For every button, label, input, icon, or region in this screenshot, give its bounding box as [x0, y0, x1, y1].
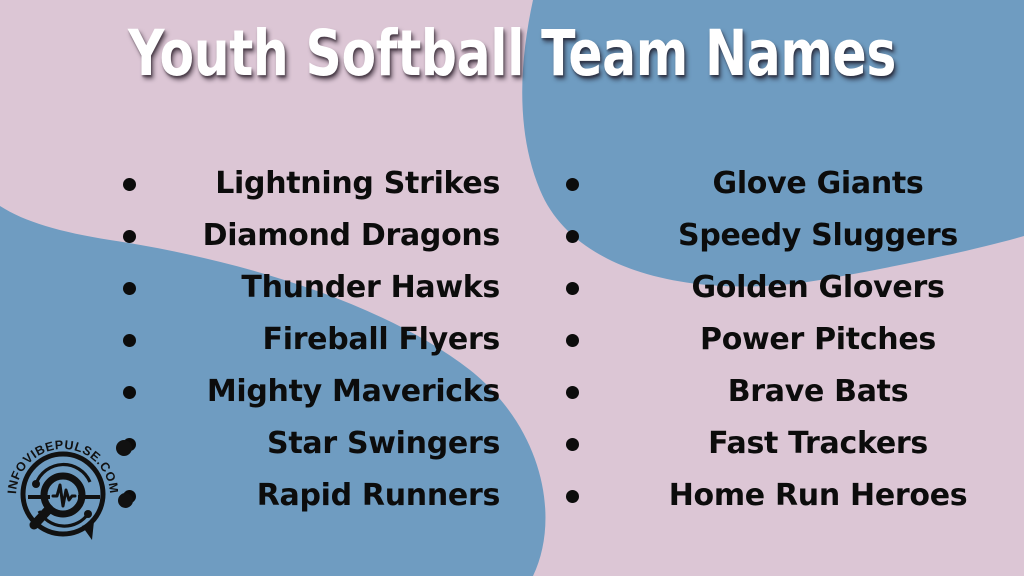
team-name: Star Swingers	[267, 426, 500, 461]
right-column: Glove Giants Speedy Sluggers Golden Glov…	[512, 158, 1024, 538]
team-name-columns: Lightning Strikes Diamond Dragons Thunde…	[0, 158, 1024, 538]
team-name: Mighty Mavericks	[207, 374, 500, 409]
logo-orbit-knob-bottom	[84, 510, 92, 518]
logo-orbit-knob-top	[32, 480, 40, 488]
list-item: Mighty Mavericks	[0, 366, 512, 418]
bullet-icon	[123, 178, 136, 191]
bullet-icon	[566, 282, 579, 295]
team-name: Golden Glovers	[691, 270, 944, 305]
team-name: Fireball Flyers	[263, 322, 500, 357]
poster-canvas: Youth Softball Team Names Lightning Stri…	[0, 0, 1024, 576]
list-item: Lightning Strikes	[0, 158, 512, 210]
team-name: Brave Bats	[728, 374, 909, 409]
right-team-list: Glove Giants Speedy Sluggers Golden Glov…	[512, 158, 1024, 522]
bullet-icon	[123, 386, 136, 399]
logo-magnifier-handle	[34, 509, 49, 525]
team-name: Rapid Runners	[257, 478, 500, 513]
list-item: Speedy Sluggers	[512, 210, 1024, 262]
list-item: Thunder Hawks	[0, 262, 512, 314]
team-name: Thunder Hawks	[241, 270, 500, 305]
logo-pulse-wave	[53, 485, 75, 506]
team-name: Glove Giants	[713, 166, 924, 201]
list-item: Fireball Flyers	[0, 314, 512, 366]
list-item: Power Pitches	[512, 314, 1024, 366]
bullet-icon	[566, 334, 579, 347]
list-item: Diamond Dragons	[0, 210, 512, 262]
bullet-icon	[566, 178, 579, 191]
decorative-dot-icon	[116, 440, 132, 456]
bullet-icon	[566, 230, 579, 243]
bullet-icon	[566, 438, 579, 451]
decorative-dot-icon	[118, 493, 133, 508]
list-item: Home Run Heroes	[512, 470, 1024, 522]
bullet-icon	[123, 230, 136, 243]
bullet-icon	[123, 334, 136, 347]
list-item: Golden Glovers	[512, 262, 1024, 314]
list-item: Fast Trackers	[512, 418, 1024, 470]
team-name: Speedy Sluggers	[678, 218, 958, 253]
list-item: Brave Bats	[512, 366, 1024, 418]
page-title: Youth Softball Team Names	[102, 22, 921, 85]
bullet-icon	[123, 282, 136, 295]
team-name: Home Run Heroes	[669, 478, 968, 513]
watermark-logo: INFOVIBEPULSE.COM	[6, 428, 118, 546]
bullet-icon	[566, 490, 579, 503]
list-item: Glove Giants	[512, 158, 1024, 210]
magnifier-pulse-logo-icon: INFOVIBEPULSE.COM	[6, 428, 118, 546]
team-name: Power Pitches	[700, 322, 936, 357]
team-name: Fast Trackers	[708, 426, 928, 461]
team-name: Diamond Dragons	[203, 218, 500, 253]
bullet-icon	[566, 386, 579, 399]
team-name: Lightning Strikes	[215, 166, 500, 201]
